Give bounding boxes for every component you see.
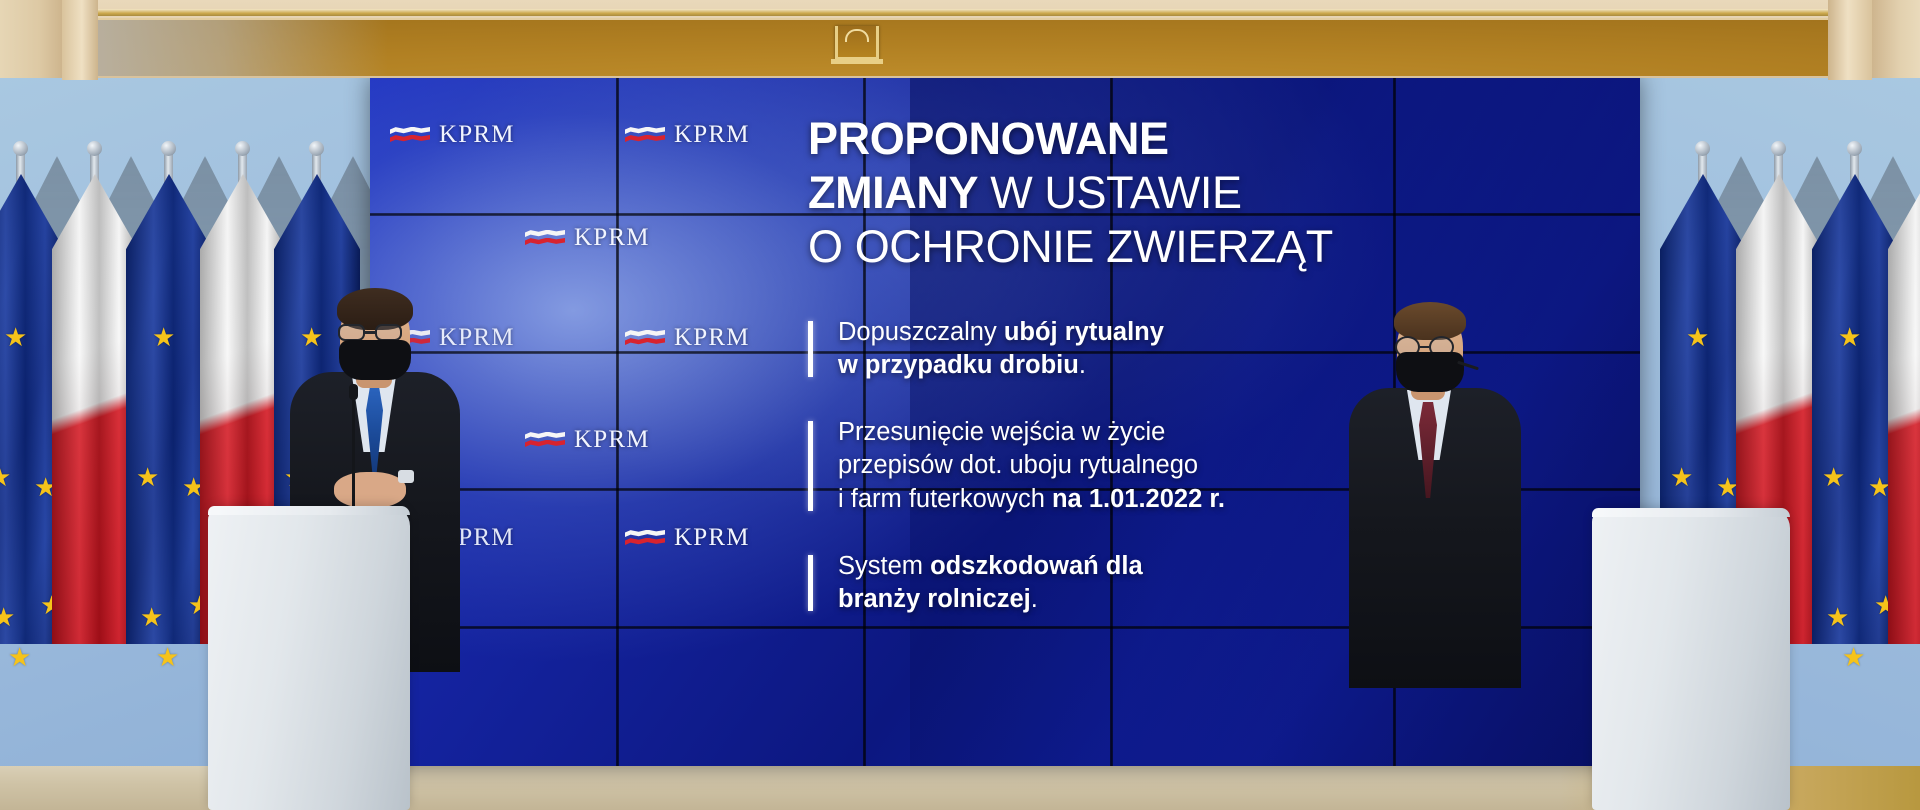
- kprm-watermark: KPRM: [625, 324, 750, 352]
- panel-seam-vertical: [616, 76, 619, 766]
- cornice-lip: [0, 9, 1920, 16]
- kprm-watermark: KPRM: [390, 121, 515, 149]
- bullet-line: i farm futerkowych na 1.01.2022 r.: [838, 483, 1308, 516]
- kprm-label: KPRM: [674, 121, 750, 149]
- slide-bullet-2: Przesunięcie wejścia w życieprzepisów do…: [808, 416, 1308, 515]
- kprm-watermark: KPRM: [525, 224, 650, 252]
- bullet-line: Dopuszczalny ubój rytualny: [838, 316, 1308, 349]
- eu-star-icon: ★: [156, 644, 179, 670]
- eu-star-icon: ★: [1826, 604, 1849, 630]
- slide-bullet-list: Dopuszczalny ubój rytualnyw przypadku dr…: [808, 316, 1308, 650]
- polish-flag-wave-icon: [625, 127, 665, 144]
- podium-right: [1592, 508, 1790, 810]
- kprm-watermark: KPRM: [625, 121, 750, 149]
- headline-zmiany: ZMIANY: [808, 167, 978, 218]
- polish-flag-wave-icon: [625, 330, 665, 347]
- polish-flag-wave-icon: [625, 530, 665, 547]
- headline-o-ochronie-zwierzat: O OCHRONIE ZWIERZĄT: [808, 221, 1333, 272]
- door-jamb-left: [62, 0, 98, 80]
- speaker-left-glasses: [338, 324, 414, 341]
- polish-flag-wave-icon: [390, 127, 430, 144]
- eu-star-icon: ★: [1670, 464, 1693, 490]
- kprm-watermark: KPRM: [625, 524, 750, 552]
- bullet-line: w przypadku drobiu.: [838, 349, 1308, 382]
- headline-line-3: O OCHRONIE ZWIERZĄT: [808, 220, 1338, 274]
- arch-soffit-shadow: [88, 20, 388, 76]
- bullet-line: branży rolniczej.: [838, 583, 1308, 616]
- eu-star-icon: ★: [4, 324, 27, 350]
- poland-flag: [1888, 174, 1920, 644]
- eu-star-icon: ★: [1686, 324, 1709, 350]
- microphone-left-head: [349, 384, 358, 400]
- door-jamb-right-outer: [1868, 0, 1920, 78]
- eu-star-icon: ★: [0, 464, 11, 490]
- kprm-label: KPRM: [574, 426, 650, 454]
- slide-bullet-1: Dopuszczalny ubój rytualnyw przypadku dr…: [808, 316, 1308, 382]
- headline-line-2: ZMIANY W USTAWIE: [808, 166, 1338, 220]
- slide-headline: PROPONOWANE ZMIANY W USTAWIE O OCHRONIE …: [808, 112, 1338, 274]
- eu-star-icon: ★: [0, 604, 15, 630]
- eu-flag: ★★★★★★: [1812, 174, 1898, 644]
- headline-proponowane: PROPONOWANE: [808, 113, 1169, 164]
- polish-flag-wave-icon: [525, 230, 565, 247]
- headline-w-ustawie: W USTAWIE: [978, 167, 1241, 218]
- kprm-label: KPRM: [439, 121, 515, 149]
- eu-star-icon: ★: [1822, 464, 1845, 490]
- speaker-right-face-mask: [1396, 352, 1464, 392]
- polish-flag-wave-icon: [525, 432, 565, 449]
- podium-right-top: [1592, 508, 1790, 517]
- bullet-line: System odszkodowań dla: [838, 550, 1308, 583]
- eu-star-icon: ★: [136, 464, 159, 490]
- ceiling-ornament-icon: [835, 26, 879, 60]
- eu-star-icon: ★: [8, 644, 31, 670]
- speaker-left-hands: [334, 472, 406, 508]
- bullet-line: przepisów dot. uboju rytualnego: [838, 449, 1308, 482]
- headline-line-1: PROPONOWANE: [808, 112, 1338, 166]
- kprm-label: KPRM: [674, 324, 750, 352]
- podium-left: [208, 506, 410, 810]
- press-conference-scene: ★★★★★★★★★★★★★★★★★★ ★★★★★★★★★★★★ KPRMKPRM…: [0, 0, 1920, 810]
- bullet-line: Przesunięcie wejścia w życie: [838, 416, 1308, 449]
- kprm-label: KPRM: [574, 224, 650, 252]
- eu-star-icon: ★: [1838, 324, 1861, 350]
- door-jamb-left-outer: [0, 0, 66, 78]
- eu-star-icon: ★: [152, 324, 175, 350]
- speaker-left-face-mask: [339, 340, 411, 380]
- speaker-left-wristwatch: [398, 470, 414, 483]
- eu-star-icon: ★: [1842, 644, 1865, 670]
- speaker-right-hair: [1394, 302, 1466, 340]
- door-jamb-right: [1828, 0, 1872, 80]
- speaker-right: [1345, 292, 1525, 692]
- kprm-label: KPRM: [674, 524, 750, 552]
- slide-bullet-3: System odszkodowań dlabranży rolniczej.: [808, 550, 1308, 616]
- podium-left-top: [208, 506, 410, 515]
- kprm-watermark: KPRM: [525, 426, 650, 454]
- eu-star-icon: ★: [140, 604, 163, 630]
